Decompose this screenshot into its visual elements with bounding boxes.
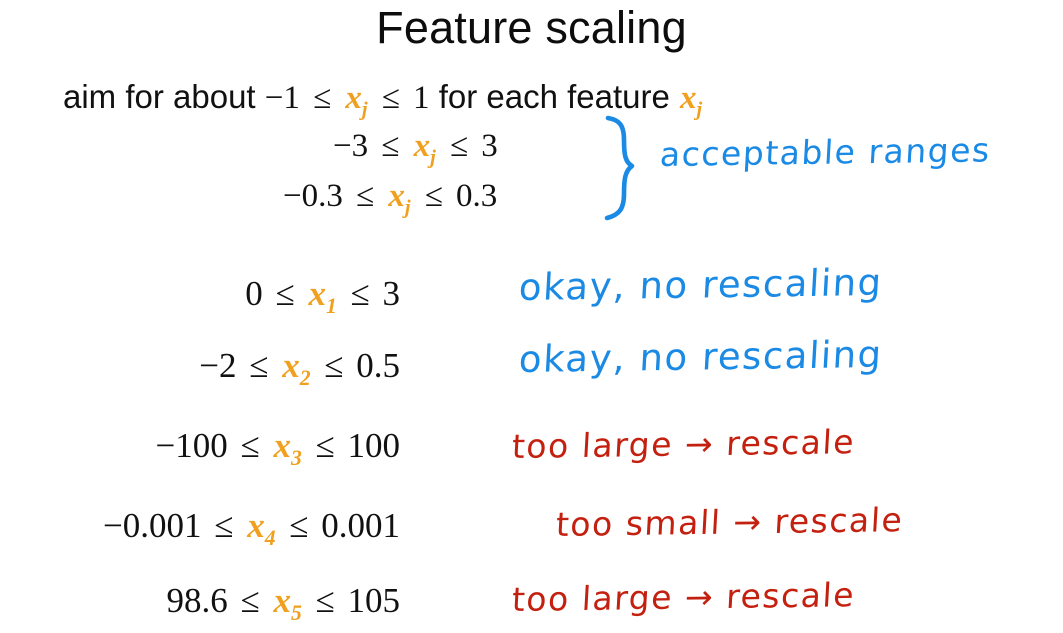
variable-letter: x <box>388 178 405 214</box>
intro-range2-upper: 3 <box>481 128 498 164</box>
example-row-1-equation: 0 ≤ x1 ≤ 3 <box>245 276 400 311</box>
leq-symbol: ≤ <box>210 506 237 545</box>
example-row-5-equation: 98.6 ≤ x5 ≤ 105 <box>166 583 400 618</box>
intro-range3-lower: −0.3 <box>283 178 343 214</box>
intro-range1-upper: 1 <box>413 80 430 116</box>
variable-subscript: j <box>405 197 411 219</box>
leq-symbol: ≤ <box>347 274 374 313</box>
leq-symbol: ≤ <box>421 178 447 214</box>
variable-subscript: j <box>697 99 703 121</box>
example-2-lower: −2 <box>199 346 236 385</box>
example-4-lower: −0.001 <box>103 506 202 545</box>
variable-subscript: j <box>430 147 436 169</box>
example-row-3-equation: −100 ≤ x3 ≤ 100 <box>155 428 400 463</box>
variable-subscript: 2 <box>300 366 311 390</box>
example-row-3-annotation: too large → rescale <box>511 425 856 463</box>
example-2-upper: 0.5 <box>356 346 400 385</box>
leq-symbol: ≤ <box>377 128 403 164</box>
example-5-upper: 105 <box>348 581 401 620</box>
variable-letter: x <box>247 506 265 545</box>
example-3-upper: 100 <box>348 426 401 465</box>
leq-symbol: ≤ <box>446 128 472 164</box>
variable-letter: x <box>680 80 697 116</box>
intro-range3-upper: 0.3 <box>456 178 497 214</box>
variable-subscript: 3 <box>291 446 302 470</box>
page-title: Feature scaling <box>0 2 1063 54</box>
leq-symbol: ≤ <box>312 426 339 465</box>
intro-line-2: −3 ≤ xj ≤ 3 <box>333 128 498 163</box>
variable-x5: x5 <box>272 581 302 620</box>
intro-range1-lower: −1 <box>265 80 300 116</box>
example-row-2-annotation: okay, no rescaling <box>518 336 884 378</box>
variable-xj: xj <box>413 128 437 164</box>
variable-xj: xj <box>344 80 368 116</box>
variable-x1: x1 <box>307 274 337 313</box>
example-1-upper: 3 <box>383 274 401 313</box>
variable-x3: x3 <box>272 426 302 465</box>
curly-brace-icon <box>598 114 654 222</box>
variable-subscript: 5 <box>291 601 302 625</box>
example-5-lower: 98.6 <box>166 581 227 620</box>
example-3-lower: −100 <box>155 426 227 465</box>
intro-trailing-text: for each feature <box>439 78 670 115</box>
leq-symbol: ≤ <box>378 80 404 116</box>
intro-line-1: aim for about −1 ≤ xj ≤ 1 for each featu… <box>63 80 703 115</box>
example-1-lower: 0 <box>245 274 263 313</box>
variable-x2: x2 <box>281 346 311 385</box>
leq-symbol: ≤ <box>352 178 378 214</box>
leq-symbol: ≤ <box>320 346 347 385</box>
variable-letter: x <box>308 274 326 313</box>
intro-lead-text: aim for about <box>63 78 256 115</box>
example-row-4-equation: −0.001 ≤ x4 ≤ 0.001 <box>103 508 400 543</box>
leq-symbol: ≤ <box>271 274 298 313</box>
example-row-2-equation: −2 ≤ x2 ≤ 0.5 <box>199 348 400 383</box>
variable-subscript: 4 <box>265 526 276 550</box>
variable-letter: x <box>345 80 362 116</box>
leq-symbol: ≤ <box>245 346 272 385</box>
variable-xj: xj <box>387 178 411 214</box>
intro-line-3: −0.3 ≤ xj ≤ 0.3 <box>283 178 497 213</box>
intro-range2-lower: −3 <box>333 128 368 164</box>
variable-x4: x4 <box>246 506 276 545</box>
example-row-4-annotation: too small → rescale <box>555 503 904 541</box>
variable-letter: x <box>273 426 291 465</box>
annotation-acceptable-ranges: acceptable ranges <box>659 133 992 171</box>
variable-letter: x <box>282 346 300 385</box>
variable-letter: x <box>273 581 291 620</box>
leq-symbol: ≤ <box>236 581 263 620</box>
example-4-upper: 0.001 <box>321 506 400 545</box>
leq-symbol: ≤ <box>309 80 335 116</box>
example-row-1-annotation: okay, no rescaling <box>518 264 884 306</box>
slide-canvas: Feature scaling aim for about −1 ≤ xj ≤ … <box>0 0 1063 633</box>
variable-letter: x <box>414 128 431 164</box>
variable-xj-trailing: xj <box>679 80 703 116</box>
variable-subscript: j <box>362 99 368 121</box>
example-row-5-annotation: too large → rescale <box>511 578 856 616</box>
leq-symbol: ≤ <box>312 581 339 620</box>
variable-subscript: 1 <box>326 294 337 318</box>
leq-symbol: ≤ <box>236 426 263 465</box>
leq-symbol: ≤ <box>285 506 312 545</box>
